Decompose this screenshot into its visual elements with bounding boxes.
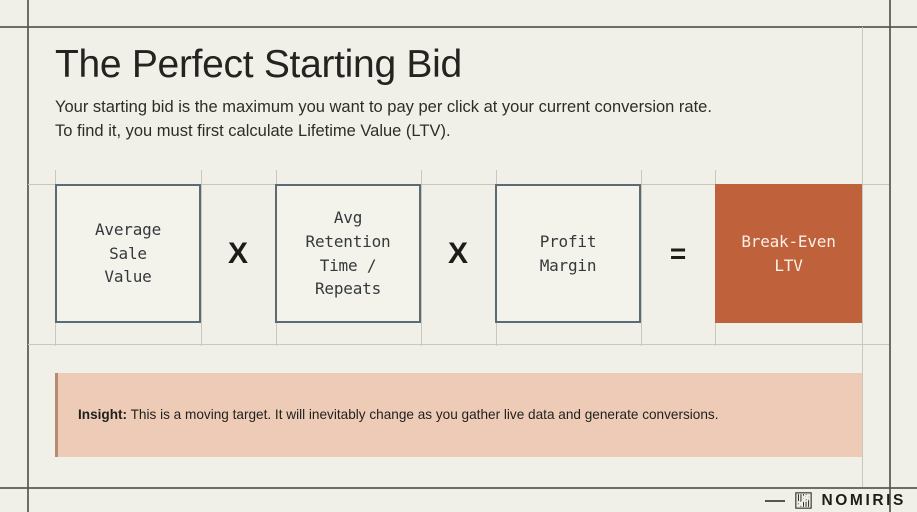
frame-rule-right xyxy=(889,0,891,512)
insight-body: This is a moving target. It will inevita… xyxy=(131,407,719,422)
insight-label: Insight: xyxy=(78,407,127,422)
subtitle-line-2: To find it, you must first calculate Lif… xyxy=(55,120,865,143)
page-title: The Perfect Starting Bid xyxy=(55,44,865,86)
frame-rule-left xyxy=(27,0,29,512)
insight-text: Insight: This is a moving target. It wil… xyxy=(78,406,719,424)
formula-term-average-sale-value: Average Sale Value xyxy=(55,184,201,323)
frame-rule-bottom xyxy=(0,487,917,489)
insight-callout: Insight: This is a moving target. It wil… xyxy=(55,373,862,457)
grid-guide-formula-bottom xyxy=(28,344,889,345)
brand-name: NOMIRIS xyxy=(821,492,906,510)
slide-header: The Perfect Starting Bid Your starting b… xyxy=(55,44,865,143)
formula-row: Average Sale Value X Avg Retention Time … xyxy=(55,184,862,323)
formula-term-profit-margin: Profit Margin xyxy=(495,184,641,323)
subtitle-line-1: Your starting bid is the maximum you wan… xyxy=(55,96,865,119)
formula-term-avg-retention-time: Avg Retention Time / Repeats xyxy=(275,184,421,323)
formula-operator-equals: = xyxy=(641,184,715,323)
brand-divider-dash xyxy=(765,500,785,502)
nomiris-emblem-icon xyxy=(795,492,812,509)
page-subtitle: Your starting bid is the maximum you wan… xyxy=(55,96,865,143)
formula-operator-multiply-2: X xyxy=(421,184,495,323)
formula-operator-multiply-1: X xyxy=(201,184,275,323)
frame-rule-top xyxy=(0,26,917,28)
slide-canvas: The Perfect Starting Bid Your starting b… xyxy=(0,0,917,512)
brand-footer: NOMIRIS xyxy=(795,489,906,512)
formula-result-break-even-ltv: Break-Even LTV xyxy=(715,184,862,323)
